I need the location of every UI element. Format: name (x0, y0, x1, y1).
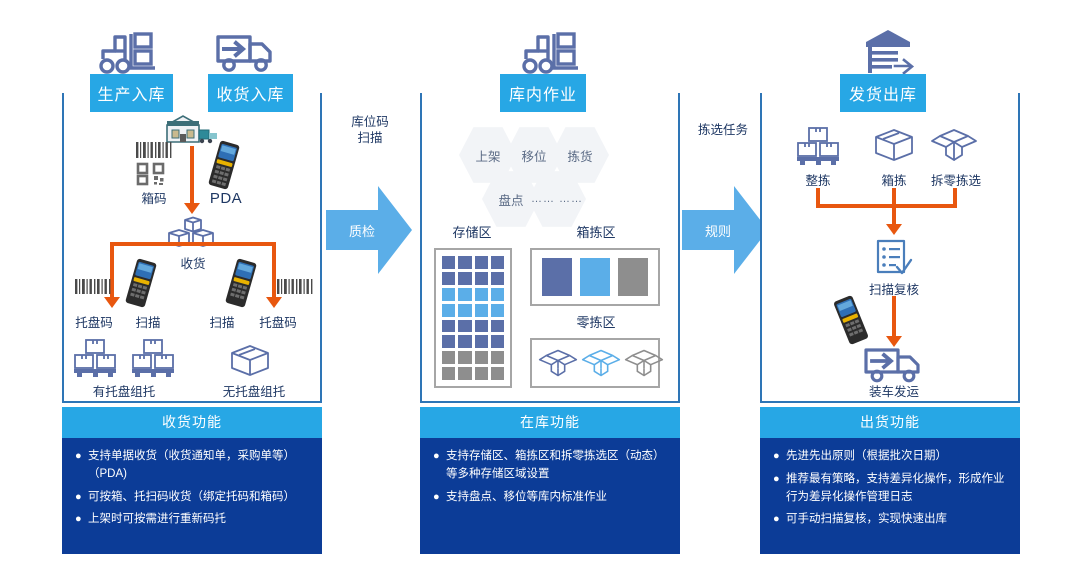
connector2-arrow-label[interactable]: 规则 (682, 182, 770, 278)
storage-cell (458, 256, 471, 269)
list-item-text: 支持盘点、移位等库内标准作业 (446, 489, 672, 507)
storage-cell (458, 288, 471, 301)
storage-cell (491, 256, 504, 269)
connector1-top-label: 库位码 扫描 (334, 115, 406, 146)
box-barcode-icon (134, 140, 174, 186)
storage-cell (491, 335, 504, 348)
inbound-function-title: 收货功能 (62, 407, 322, 438)
receiving-split-left-head (104, 297, 120, 308)
storage-cell (491, 320, 504, 333)
bullet-icon: ● (430, 448, 446, 484)
storage-cell (491, 367, 504, 380)
label-loading-shipping: 装车发运 (858, 381, 930, 400)
list-item: ● 上架时可按需进行重新码托 (72, 511, 314, 529)
badge-internal-operations[interactable]: 库内作业 (500, 74, 586, 112)
pda-scanner-icon (205, 140, 243, 190)
storage-cell (458, 335, 471, 348)
storage-cell (442, 351, 455, 364)
connector1-arrow-label[interactable]: 质检 (326, 182, 414, 278)
list-item: ● 支持单据收货（收货通知单，采购单等）（PDA) (72, 448, 314, 484)
storage-cell (442, 320, 455, 333)
bullet-icon: ● (72, 489, 88, 507)
storage-cell (475, 351, 488, 364)
list-item-text: 上架时可按需进行重新码托 (88, 511, 314, 529)
pda-scanner-right-icon (222, 258, 260, 308)
arrow-verify-to-shipping-stem (892, 296, 896, 338)
outbound-function-block: 出货功能 ● 先进先出原则（根据批次日期） ● 推荐最有策略，支持差异化操作，形… (760, 407, 1020, 550)
case-pick-cell (580, 258, 610, 296)
list-item-text: 可手动扫描复核，实现快速出库 (786, 511, 1012, 529)
list-item-text: 可按箱、托扫码收货（绑定托码和箱码） (88, 489, 314, 507)
piece-pick-cells (538, 344, 654, 382)
forklift-icon-internal (518, 25, 582, 77)
merge-down-head (886, 224, 902, 235)
case-pick-cells (542, 258, 648, 296)
receiving-split-right-head (266, 297, 282, 308)
badge-outbound-shipping[interactable]: 发货出库 (840, 74, 926, 112)
list-item: ● 支持存储区、箱拣区和拆零拣选区（动态）等多种存储区域设置 (430, 448, 672, 484)
label-storage-zone: 存储区 (432, 222, 512, 241)
label-without-pallet: 无托盘组托 (198, 381, 310, 400)
label-with-pallet: 有托盘组托 (68, 381, 180, 400)
badge-production-inbound[interactable]: 生产入库 (90, 74, 173, 112)
list-item-text: 推荐最有策略，支持差异化操作，形成作业行为差异化操作管理日志 (786, 471, 1012, 507)
open-box-icon (581, 346, 621, 380)
storage-cell (458, 367, 471, 380)
arrow-warehouse-to-receiving-stem (190, 146, 194, 204)
label-piece-pick: 拆零拣选 (920, 170, 992, 189)
case-pick-cell (542, 258, 572, 296)
case-pick-cell (618, 258, 648, 296)
storage-cell (475, 367, 488, 380)
open-box-icon (538, 346, 578, 380)
pallet-stack-icon-1 (72, 338, 118, 378)
label-case-pick: 箱拣 (866, 170, 922, 189)
internal-function-block: 在库功能 ● 支持存储区、箱拣区和拆零拣选区（动态）等多种存储区域设置 ● 支持… (420, 407, 680, 550)
label-case-pick-zone: 箱拣区 (556, 222, 636, 241)
bullet-icon: ● (430, 489, 446, 507)
storage-cell (475, 335, 488, 348)
delivery-truck-icon (212, 27, 280, 75)
pallet-barcode-left-icon (74, 278, 112, 296)
open-box-icon (624, 346, 664, 380)
internal-function-title: 在库功能 (420, 407, 680, 438)
receiving-split-left-horizontal (110, 242, 192, 246)
merge-down-stem (892, 204, 896, 226)
label-pallet-code-left: 托盘码 (66, 312, 122, 331)
pda-scanner-icon-outbound (832, 295, 870, 345)
storage-cell (442, 335, 455, 348)
label-piece-pick-zone: 零拣区 (556, 312, 636, 331)
closed-box-icon (228, 344, 272, 378)
storage-cell (442, 288, 455, 301)
bullet-icon: ● (770, 511, 786, 529)
storage-cell (458, 351, 471, 364)
list-item: ● 可按箱、托扫码收货（绑定托码和箱码） (72, 489, 314, 507)
label-box-code: 箱码 (124, 188, 184, 207)
storage-cell (475, 288, 488, 301)
list-item: ● 推荐最有策略，支持差异化操作，形成作业行为差异化操作管理日志 (770, 471, 1012, 507)
storage-cell (442, 367, 455, 380)
list-item-text: 支持存储区、箱拣区和拆零拣选区（动态）等多种存储区域设置 (446, 448, 672, 484)
warehouse-exit-icon (862, 28, 918, 78)
storage-cell (475, 304, 488, 317)
inbound-function-block: 收货功能 ● 支持单据收货（收货通知单，采购单等）（PDA) ● 可按箱、托扫码… (62, 407, 322, 550)
list-item: ● 先进先出原则（根据批次日期） (770, 448, 1012, 466)
receiving-boxes-icon (163, 217, 223, 255)
storage-cell (442, 304, 455, 317)
badge-receiving-inbound[interactable]: 收货入库 (208, 74, 293, 112)
outbound-function-title: 出货功能 (760, 407, 1020, 438)
storage-cell (442, 272, 455, 285)
label-pda: PDA (196, 190, 256, 207)
merge-horizontal (816, 204, 957, 208)
label-scan-right: 扫描 (198, 312, 246, 331)
forklift-icon (95, 25, 159, 77)
storage-cell (442, 256, 455, 269)
bullet-icon: ● (770, 448, 786, 466)
internal-function-body: ● 支持存储区、箱拣区和拆零拣选区（动态）等多种存储区域设置 ● 支持盘点、移位… (420, 438, 680, 554)
storage-cell (475, 272, 488, 285)
bullet-icon: ● (72, 511, 88, 529)
label-scan-left: 扫描 (124, 312, 172, 331)
pallet-stack-icon-outbound (795, 126, 841, 166)
connector2-label-line1: 拣选任务 (698, 123, 748, 137)
storage-cell (491, 351, 504, 364)
bullet-icon: ● (72, 448, 88, 484)
receiving-split-right-horizontal (190, 242, 276, 246)
connector1-label-line1: 库位码 (351, 115, 389, 129)
arrow-warehouse-to-receiving-head (184, 203, 200, 214)
connector1-label-line2: 扫描 (357, 131, 382, 145)
list-item: ● 可手动扫描复核，实现快速出库 (770, 511, 1012, 529)
list-item-text: 支持单据收货（收货通知单，采购单等）（PDA) (88, 448, 314, 484)
storage-cell (491, 288, 504, 301)
closed-box-icon-outbound (872, 128, 916, 164)
open-box-icon-outbound (930, 126, 978, 164)
inbound-function-body: ● 支持单据收货（收货通知单，采购单等）（PDA) ● 可按箱、托扫码收货（绑定… (62, 438, 322, 554)
pallet-stack-icon-2 (130, 338, 176, 378)
diagram-canvas: 生产入库 收货入库 (0, 0, 1080, 570)
list-item-text: 先进先出原则（根据批次日期） (786, 448, 1012, 466)
bullet-icon: ● (770, 471, 786, 507)
storage-cell (475, 320, 488, 333)
storage-cell (491, 272, 504, 285)
list-item: ● 支持盘点、移位等库内标准作业 (430, 489, 672, 507)
checklist-icon (872, 238, 914, 280)
label-receiving: 收货 (163, 253, 223, 272)
label-full-pallet-pick: 整拣 (790, 170, 846, 189)
label-pallet-code-right: 托盘码 (250, 312, 306, 331)
storage-cell (458, 272, 471, 285)
connector2-top-label: 拣选任务 (684, 123, 762, 139)
pda-scanner-left-icon (122, 258, 160, 308)
delivery-truck-icon-outbound (860, 344, 928, 386)
pallet-barcode-right-icon (276, 278, 314, 296)
storage-cell (475, 256, 488, 269)
storage-cell (458, 304, 471, 317)
storage-cell (491, 304, 504, 317)
outbound-function-body: ● 先进先出原则（根据批次日期） ● 推荐最有策略，支持差异化操作，形成作业行为… (760, 438, 1020, 554)
storage-cell (458, 320, 471, 333)
storage-zone-grid (442, 256, 504, 380)
